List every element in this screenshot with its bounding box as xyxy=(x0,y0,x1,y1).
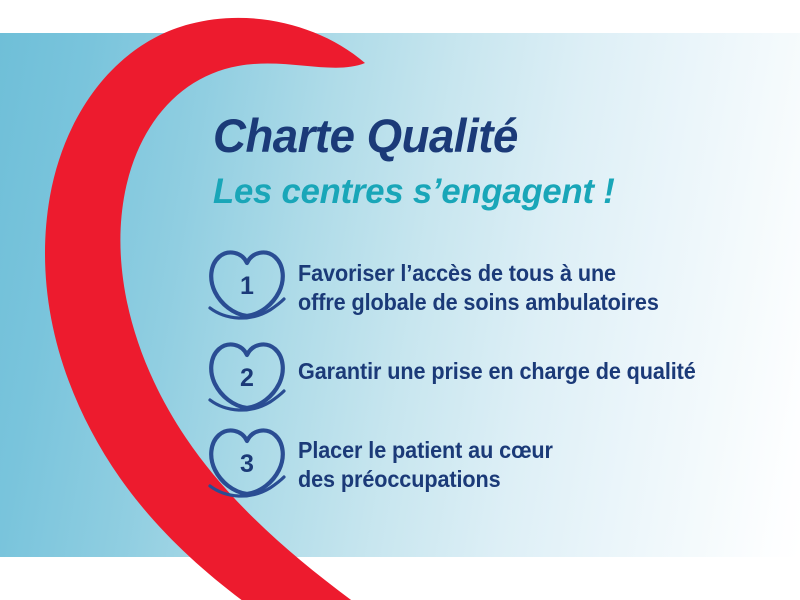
commitment-line: Garantir une prise en charge de qualité xyxy=(298,357,696,386)
commitment-line: Favoriser l’accès de tous à une xyxy=(298,259,659,288)
page-title: Charte Qualité xyxy=(213,108,518,163)
commitment-text-2: Garantir une prise en charge de qualité xyxy=(298,357,696,386)
page-subtitle: Les centres s’engagent ! xyxy=(213,172,615,212)
commitment-text-3: Placer le patient au cœur des préoccupat… xyxy=(298,436,553,494)
commitment-line: Placer le patient au cœur xyxy=(298,436,553,465)
heart-number-3: 3 xyxy=(240,450,254,478)
heart-number-1: 1 xyxy=(240,272,254,300)
commitment-text-1: Favoriser l’accès de tous à une offre gl… xyxy=(298,259,659,317)
heart-number-2: 2 xyxy=(240,364,254,392)
heart-icon: 3 xyxy=(206,424,288,502)
charte-qualite-poster: Charte Qualité Les centres s’engagent ! … xyxy=(0,0,800,600)
commitment-line: des préoccupations xyxy=(298,465,553,494)
heart-icon: 2 xyxy=(206,338,288,416)
text-content: Charte Qualité Les centres s’engagent ! … xyxy=(0,0,800,600)
heart-icon: 1 xyxy=(206,246,288,324)
commitment-line: offre globale de soins ambulatoires xyxy=(298,288,659,317)
